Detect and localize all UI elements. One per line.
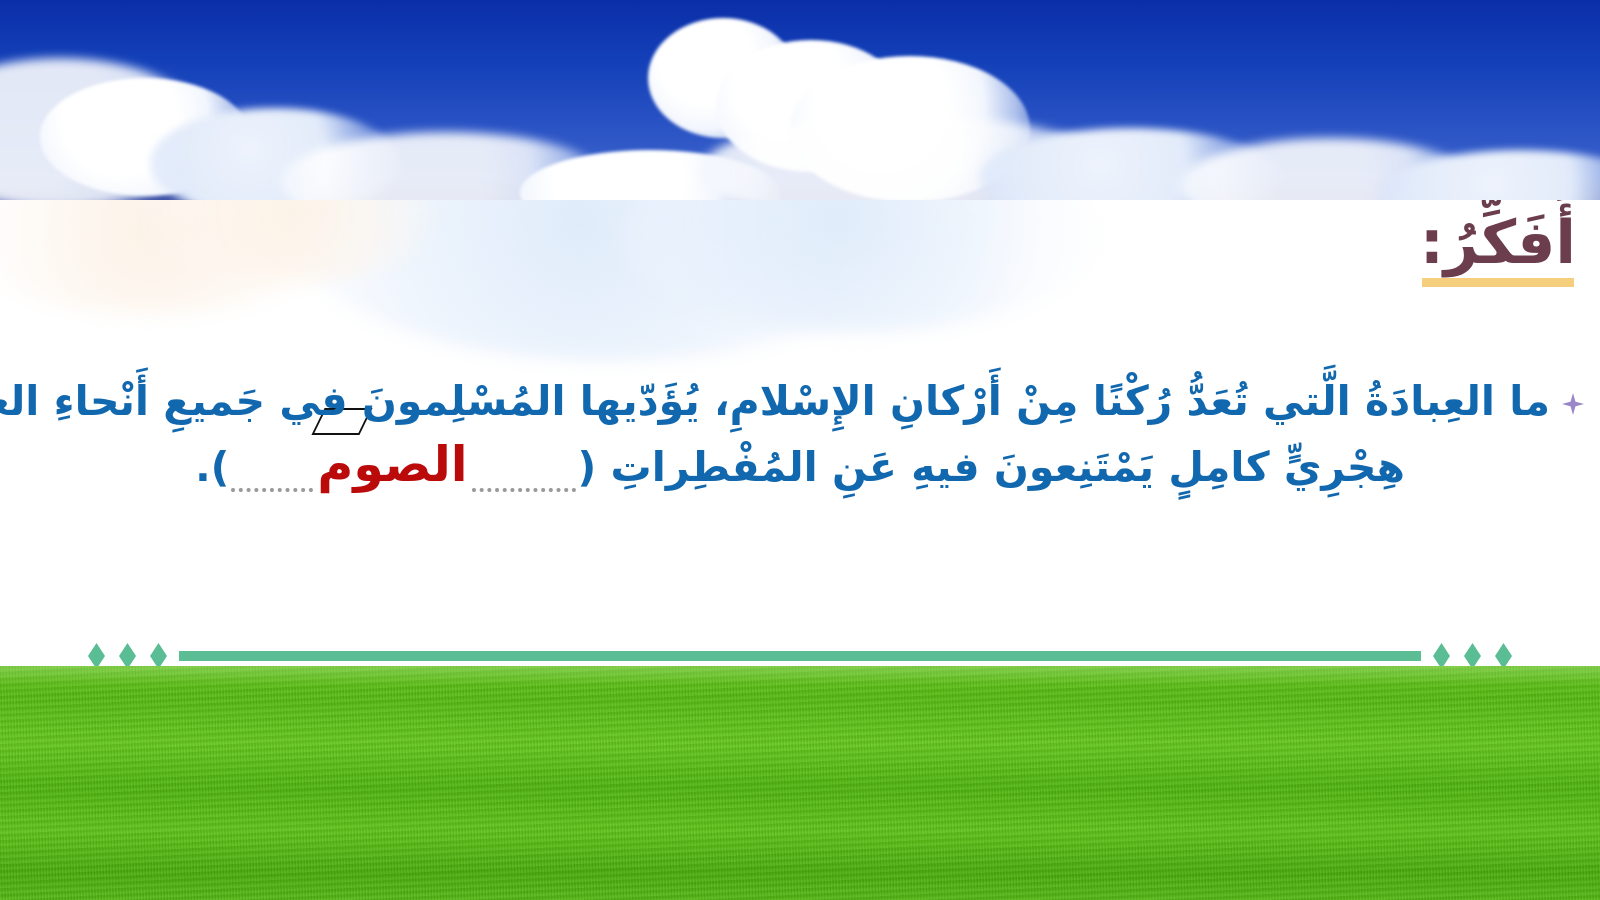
question-line-1: ما العِبادَةُ الَّتي تُعَدُّ رُكْنًا مِن… (10, 372, 1590, 430)
diamond-group-right (1433, 643, 1512, 666)
diamond-icon (119, 643, 136, 666)
decorative-divider (88, 640, 1512, 666)
page-title: أُفَكِّرُ: (1414, 212, 1582, 277)
question-line-1-text: ما العِبادَةُ الَّتي تُعَدُّ رُكْنًا مِن… (0, 377, 1550, 425)
answer-slot: الصوم (229, 430, 577, 500)
sky-background-image (0, 0, 1600, 205)
question-line-2: هِجْرِيٍّ كامِلٍ يَمْتَنِعونَ فيهِ عَنِ … (10, 430, 1590, 500)
question-line-2-suffix: ). (195, 443, 229, 491)
question-line-2-prefix: هِجْرِيٍّ كامِلٍ يَمْتَنِعونَ فيهِ عَنِ … (578, 443, 1405, 491)
slide-root: أُفَكِّرُ: ما العِبادَةُ الَّتي تُعَدُّ … (0, 0, 1600, 900)
diamond-icon (1495, 643, 1512, 666)
panel-cloud-overlay (0, 200, 340, 314)
diamond-icon (1433, 643, 1450, 666)
grass-background-image (0, 666, 1600, 900)
diamond-group-left (88, 643, 167, 666)
heading-block: أُفَكِّرُ: (1414, 212, 1582, 287)
panel-cloud-overlay (140, 200, 440, 282)
dotted-leader-left (231, 482, 313, 492)
diamond-icon (88, 643, 105, 666)
heading-underline (1422, 278, 1574, 287)
answer-text: الصوم (315, 436, 469, 493)
content-panel: أُفَكِّرُ: ما العِبادَةُ الَّتي تُعَدُّ … (0, 200, 1600, 666)
dotted-leader-right (472, 482, 576, 492)
diamond-icon (150, 643, 167, 666)
panel-cloud-overlay (300, 200, 920, 360)
panel-cloud-overlay (620, 200, 1100, 332)
question-block: ما العِبادَةُ الَّتي تُعَدُّ رُكْنًا مِن… (10, 372, 1590, 500)
four-point-star-bullet-icon (1562, 393, 1584, 415)
divider-line (179, 651, 1421, 661)
diamond-icon (1464, 643, 1481, 666)
